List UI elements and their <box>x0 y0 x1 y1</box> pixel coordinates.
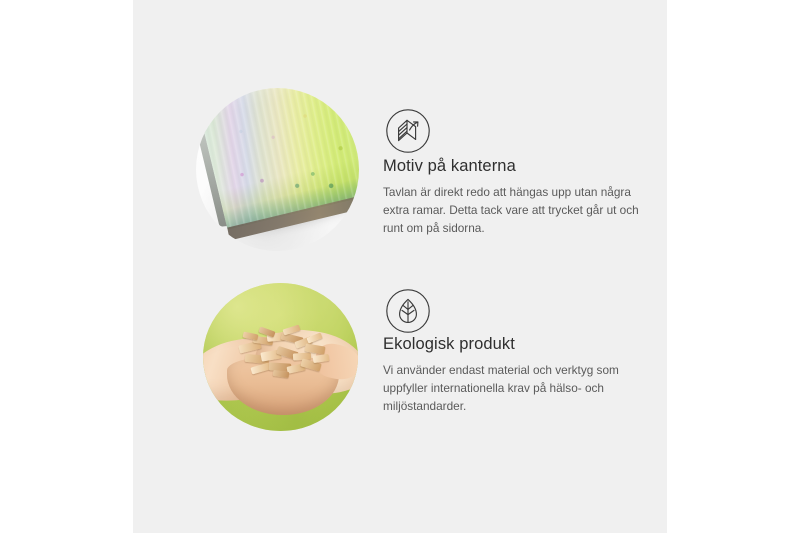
feature-title: Ekologisk produkt <box>383 335 655 355</box>
content-panel <box>133 0 667 533</box>
canvas-wrapped-edges-icon <box>385 108 431 154</box>
wood-chip <box>273 370 290 378</box>
wood-chip <box>313 354 330 363</box>
feature-text-ekologisk: Ekologisk produkt Vi använder endast mat… <box>383 335 655 416</box>
wood-chip-pile <box>237 327 337 379</box>
feature-description: Vi använder endast material och verktyg … <box>383 362 655 416</box>
feature-description: Tavlan är direkt redo att hängas upp uta… <box>383 184 655 238</box>
promo-graphic: Motiv på kanterna Tavlan är direkt redo … <box>0 0 800 533</box>
canvas-print-photo <box>196 88 359 251</box>
wood-chip <box>306 332 322 343</box>
leaf-icon <box>385 288 431 334</box>
wood-chip <box>250 363 270 375</box>
canvas-print-block <box>197 88 359 230</box>
wood-chip <box>243 332 259 341</box>
feature-title: Motiv på kanterna <box>383 157 655 177</box>
wood-chips-in-hands-photo <box>203 283 358 431</box>
feature-text-motiv: Motiv på kanterna Tavlan är direkt redo … <box>383 157 655 238</box>
